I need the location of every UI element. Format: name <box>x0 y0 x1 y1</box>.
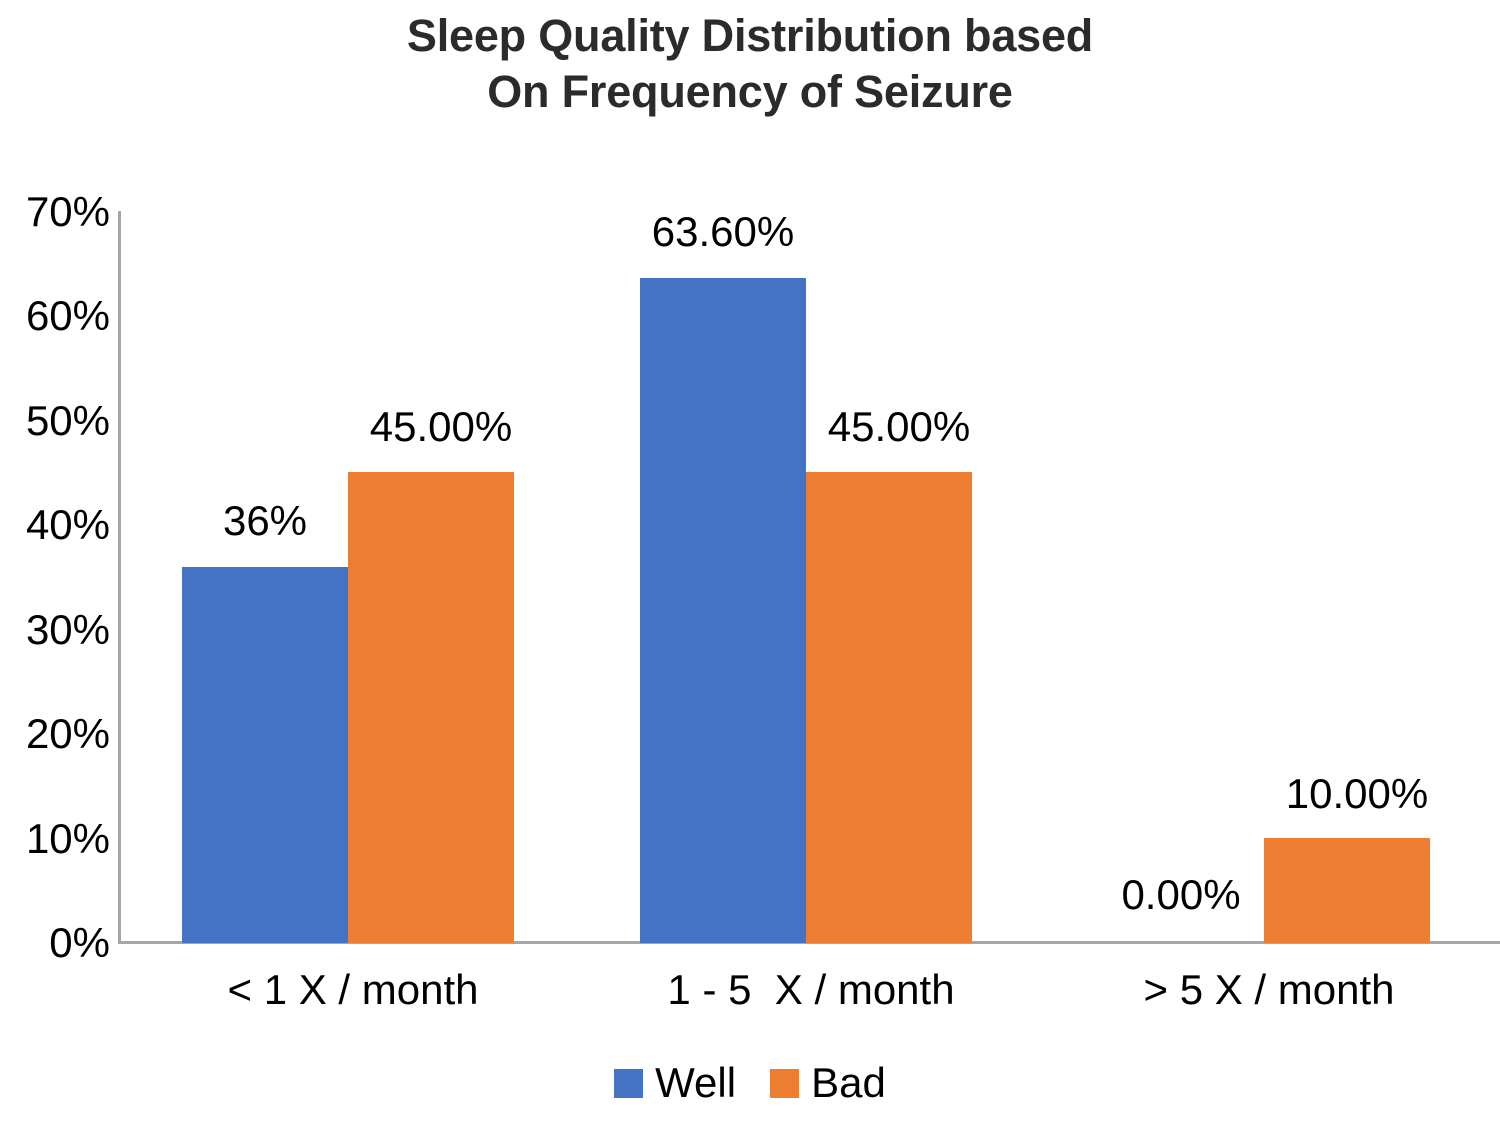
bar-group-2 <box>640 211 1026 943</box>
y-axis-tick-40: 40% <box>2 504 110 546</box>
legend-item-bad[interactable]: Bad <box>770 1062 886 1104</box>
data-label-bad-3: 10.00% <box>1286 773 1428 815</box>
data-label-well-3: 0.00% <box>1121 874 1240 916</box>
bar-bad-3[interactable] <box>1264 838 1430 943</box>
bar-well-1[interactable] <box>182 567 348 943</box>
bar-bad-1[interactable] <box>348 472 514 943</box>
y-axis-tick-0: 0% <box>2 922 110 964</box>
data-label-well-2: 63.60% <box>652 211 794 253</box>
chart-legend: Well Bad <box>0 1062 1500 1104</box>
legend-swatch-well-icon <box>614 1069 643 1098</box>
legend-label-bad: Bad <box>811 1062 886 1104</box>
legend-label-well: Well <box>655 1062 736 1104</box>
y-axis-tick-20: 20% <box>2 713 110 755</box>
y-axis-tick-10: 10% <box>2 818 110 860</box>
plot-area <box>118 211 1500 943</box>
chart-title-line-2: On Frequency of Seizure <box>0 64 1500 120</box>
x-axis-category-1: < 1 X / month <box>228 966 479 1014</box>
data-label-bad-1: 45.00% <box>370 406 512 448</box>
data-label-bad-2: 45.00% <box>828 406 970 448</box>
x-axis-category-3: > 5 X / month <box>1144 966 1395 1014</box>
y-axis-tick-60: 60% <box>2 295 110 337</box>
y-axis-tick-labels: 70% 60% 50% 40% 30% 20% 10% 0% <box>0 0 110 1130</box>
bar-bad-2[interactable] <box>806 472 972 943</box>
chart-title: Sleep Quality Distribution based On Freq… <box>0 8 1500 121</box>
y-axis-tick-50: 50% <box>2 400 110 442</box>
data-label-well-1: 36% <box>223 500 307 542</box>
legend-item-well[interactable]: Well <box>614 1062 736 1104</box>
y-axis-tick-30: 30% <box>2 609 110 651</box>
bar-well-2[interactable] <box>640 278 806 943</box>
x-axis-category-2: 1 - 5 X / month <box>667 966 954 1014</box>
chart-title-line-1: Sleep Quality Distribution based <box>0 8 1500 64</box>
chart-container: Sleep Quality Distribution based On Freq… <box>0 0 1500 1130</box>
bar-group-3 <box>1098 211 1484 943</box>
bar-group-1 <box>182 211 568 943</box>
y-axis-tick-70: 70% <box>2 191 110 233</box>
legend-swatch-bad-icon <box>770 1069 799 1098</box>
